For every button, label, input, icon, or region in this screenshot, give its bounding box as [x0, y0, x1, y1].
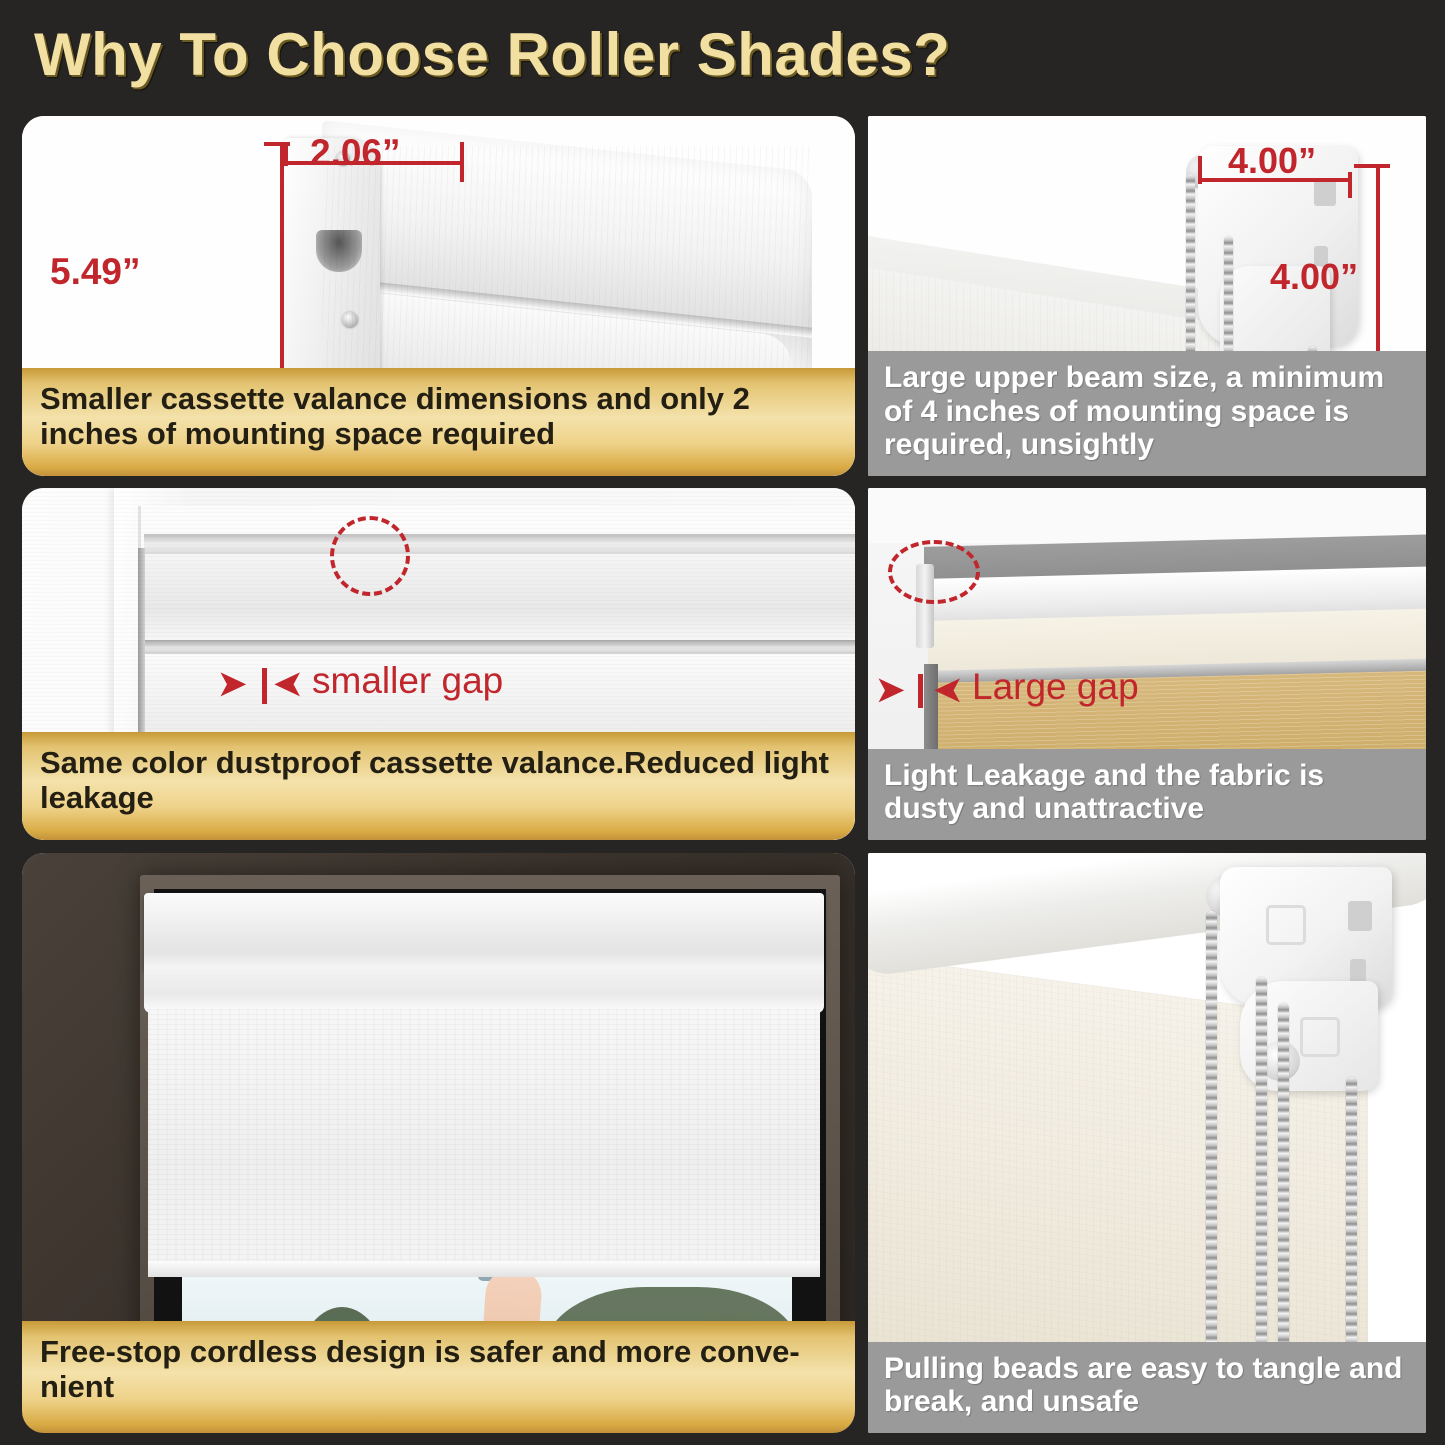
gap-bar [918, 674, 923, 708]
caption-row1-right: Large upper beam size, a minimum of 4 in… [868, 351, 1426, 476]
gap-arrow-right-icon: ➤ [274, 667, 303, 701]
gap-bar [262, 668, 267, 704]
dimension-tick-top [1354, 164, 1390, 168]
gap-arrow-right-icon: ➤ [934, 673, 963, 707]
caption-row2-right: Light Leakage and the fabric is dusty an… [868, 749, 1426, 840]
dimension-tick-right [460, 142, 464, 182]
gap-arrow-left-icon: ➤ [876, 673, 905, 707]
page-title: Why To Choose Roller Shades? [34, 20, 950, 89]
dimension-label-width: 2.06” [310, 132, 401, 174]
panel-row2-right[interactable]: ➤ ➤ Large gap Light Leakage and the fabr… [868, 488, 1426, 840]
bead-chain [1278, 1003, 1289, 1379]
gap-arrow-left-icon: ➤ [218, 667, 247, 701]
panel-row3-left[interactable]: Free-stop cordless design is safer and m… [22, 853, 855, 1433]
panel-row2-left[interactable]: ➤ ➤ smaller gap Same color dustproof cas… [22, 488, 855, 840]
comparison-grid: 2.06” 5.49” Smaller cassette valance dim… [0, 108, 1445, 1445]
page-header: Why To Choose Roller Shades? [0, 0, 1445, 108]
dimension-label-height: 5.49” [50, 251, 141, 293]
highlight-circle-icon [888, 540, 980, 604]
panel-row1-right[interactable]: 4.00” 4.00” Large upper beam size, a min… [868, 116, 1426, 476]
gap-label-smaller: smaller gap [312, 660, 503, 702]
panel-row1-left[interactable]: 2.06” 5.49” Smaller cassette valance dim… [22, 116, 855, 476]
panel-row3-right[interactable]: Pulling beads are easy to tangle and bre… [868, 853, 1426, 1433]
bead-chain [1256, 977, 1267, 1377]
caption-row3-right: Pulling beads are easy to tangle and bre… [868, 1342, 1426, 1433]
dimension-tick-top [264, 142, 290, 146]
bead-chain [1206, 911, 1217, 1373]
highlight-circle-icon [330, 516, 410, 596]
dimension-tick-right [1348, 172, 1352, 198]
dimension-label-beam-width: 4.00” [1228, 140, 1316, 182]
dimension-tick-left [1198, 156, 1202, 184]
caption-row1-left: Smaller cassette valance dimensions and … [22, 368, 855, 476]
caption-row2-left: Same color dustproof cassette valance.Re… [22, 732, 855, 840]
dimension-label-beam-height: 4.00” [1270, 256, 1358, 298]
bead-chain [1346, 1077, 1357, 1377]
caption-row3-left: Free-stop cordless design is safer and m… [22, 1321, 855, 1433]
gap-label-large: Large gap [972, 666, 1139, 708]
